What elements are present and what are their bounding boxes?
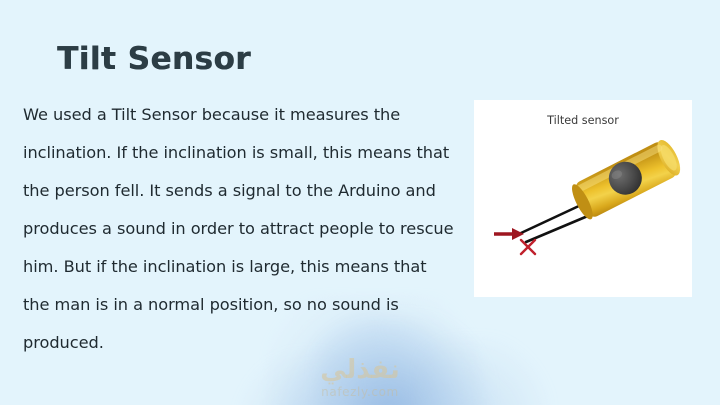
sensor-body	[568, 137, 685, 222]
watermark-latin-text: nafezly.com	[0, 385, 720, 399]
slide: نفذلي nafezly.com Tilt Sensor We used a …	[0, 0, 720, 405]
image-card: Tilted sensor	[474, 100, 692, 297]
tilt-sensor-diagram	[474, 100, 692, 297]
page-title: Tilt Sensor	[57, 41, 251, 77]
direction-arrow-icon	[494, 228, 524, 240]
watermark: نفذلي nafezly.com	[0, 357, 720, 399]
body-paragraph: We used a Tilt Sensor because it measure…	[23, 96, 455, 362]
